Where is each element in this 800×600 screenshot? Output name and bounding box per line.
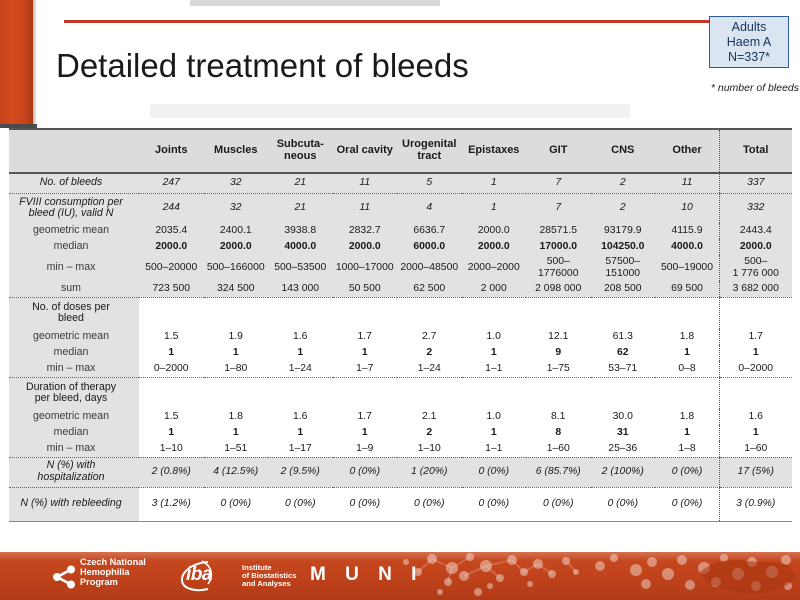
cell-line: 2 098 000: [535, 283, 581, 294]
table-cell: 0 (0%): [526, 487, 591, 521]
table-cell: 247: [139, 173, 204, 193]
cell-line: 1: [684, 427, 690, 438]
row-label: geometric mean: [9, 329, 139, 345]
cell-line: 1: [491, 177, 497, 188]
left-accent-bar-shadow: [33, 0, 37, 127]
table-cell-total: 1: [720, 425, 792, 441]
table-cell: [268, 297, 333, 329]
table-cell: 53–71: [591, 361, 656, 377]
cell-line: 7: [555, 202, 561, 213]
table-cell: 1.8: [655, 409, 720, 425]
table-cell: 32: [204, 173, 269, 193]
cell-line: 1–10: [160, 443, 183, 454]
table-row: min – max1–101–511–171–91–101–11–6025–36…: [9, 441, 792, 457]
table-cell-total: [720, 377, 792, 409]
results-table-container: Joints Muscles Subcuta- neous Oral cavit…: [9, 128, 791, 522]
page-title: Detailed treatment of bleeds: [56, 47, 469, 85]
slide-root: Detailed treatment of bleeds Adults Haem…: [0, 0, 800, 600]
cell-line: 500–20000: [145, 262, 197, 273]
table-cell: 208 500: [591, 281, 656, 297]
cell-line: 0 (0%): [414, 498, 445, 509]
cell-line: 4115.9: [671, 225, 702, 236]
cell-line: 0 (0%): [478, 466, 509, 477]
slide-footer: Czech National Hemophilia Program iba In…: [0, 552, 800, 600]
table-cell-total: 1: [720, 345, 792, 361]
table-cell: 1–7: [333, 361, 398, 377]
table-cell: 50 500: [333, 281, 398, 297]
table-cell: 0–8: [655, 361, 720, 377]
cell-line: 1.7: [749, 331, 763, 342]
table-cell: 2000.0: [462, 223, 527, 239]
cell-line: 0–8: [678, 363, 695, 374]
table-cell: 32: [204, 193, 269, 223]
table-cell: 0 (0%): [333, 457, 398, 487]
cell-line: 1: [233, 427, 239, 438]
row-label-line: geometric mean: [33, 224, 109, 236]
table-cell: 500–166000: [204, 255, 269, 281]
table-cell-total: 1.6: [720, 409, 792, 425]
cell-line: 2000–48500: [400, 262, 458, 273]
table-cell: 1–8: [655, 441, 720, 457]
cell-line: 28571.5: [539, 225, 577, 236]
cell-line: 2.7: [422, 331, 436, 342]
table-cell: 1–10: [397, 441, 462, 457]
table-cell: [333, 297, 398, 329]
table-cell: 1: [268, 345, 333, 361]
table-cell: 2: [591, 173, 656, 193]
table-cell: 2832.7: [333, 223, 398, 239]
table-cell: 1–24: [268, 361, 333, 377]
cell-line: 4 (12.5%): [213, 466, 258, 477]
table-cell: 2 (0.8%): [139, 457, 204, 487]
cell-line: 2: [620, 177, 626, 188]
table-body: No. of bleeds247322111517211337FVIII con…: [9, 173, 792, 521]
table-cell: 1.9: [204, 329, 269, 345]
cell-line: 247: [163, 177, 180, 188]
table-cell: 62 500: [397, 281, 462, 297]
header-oral-cavity: Oral cavity: [333, 129, 398, 173]
row-label-line: N (%) with: [47, 459, 96, 471]
header-epistaxes: Epistaxes: [462, 129, 527, 173]
cell-line: 500–19000: [661, 262, 713, 273]
table-cell: 8.1: [526, 409, 591, 425]
table-cell: 1–1: [462, 441, 527, 457]
table-cell: 9: [526, 345, 591, 361]
cell-line: 61.3: [613, 331, 633, 342]
row-label: Duration of therapyper bleed, days: [9, 377, 139, 409]
table-cell: [268, 377, 333, 409]
cell-line: 6636.7: [413, 225, 445, 236]
cell-line: 1: [491, 347, 497, 358]
table-cell: 2400.1: [204, 223, 269, 239]
table-cell: 4: [397, 193, 462, 223]
table-cell: 1.0: [462, 409, 527, 425]
table-cell: 1: [655, 345, 720, 361]
table-cell: 69 500: [655, 281, 720, 297]
cell-line: 1–60: [744, 443, 767, 454]
cell-line: 2000.0: [220, 241, 252, 252]
header-urogenital-line2: tract: [417, 150, 441, 162]
cell-line: 6000.0: [413, 241, 445, 252]
table-cell: 1: [139, 425, 204, 441]
cell-line: 1: [168, 427, 174, 438]
cell-line: 8.1: [551, 411, 565, 422]
row-label-line: median: [54, 426, 89, 438]
table-cell: [526, 377, 591, 409]
cell-line: 11: [682, 177, 693, 188]
cell-line: 1.8: [229, 411, 243, 422]
table-cell: 2035.4: [139, 223, 204, 239]
header-urogenital-line1: Urogenital: [402, 138, 456, 150]
header-urogenital: Urogenital tract: [397, 129, 462, 173]
table-cell: [591, 377, 656, 409]
table-cell: 2000–48500: [397, 255, 462, 281]
table-cell: [333, 377, 398, 409]
table-cell: [397, 297, 462, 329]
cell-line: 1: [753, 347, 759, 358]
header-other: Other: [655, 129, 720, 173]
cell-line: 1: [297, 427, 303, 438]
table-cell: 4115.9: [655, 223, 720, 239]
table-cell: 500–20000: [139, 255, 204, 281]
cell-line: 2.1: [422, 411, 436, 422]
table-cell: 30.0: [591, 409, 656, 425]
cell-line: 2000.0: [740, 241, 772, 252]
header-muscles: Muscles: [204, 129, 269, 173]
cell-line: 0 (0%): [543, 498, 574, 509]
table-cell: 1.8: [204, 409, 269, 425]
table-cell: 244: [139, 193, 204, 223]
row-label: N (%) withhospitalization: [9, 457, 139, 487]
cell-line: 12.1: [548, 331, 568, 342]
table-row: min – max0–20001–801–241–71–241–11–7553–…: [9, 361, 792, 377]
row-label-line: per bleed, days: [35, 392, 107, 404]
row-label: min – max: [9, 361, 139, 377]
table-cell-total: 3 (0.9%): [720, 487, 792, 521]
cohort-badge-line1: Adults: [710, 20, 788, 35]
cell-line: 17000.0: [539, 241, 577, 252]
top-decoration-band: [190, 0, 440, 6]
iba-line3: and Analyses: [242, 580, 296, 588]
cell-line: 0 (0%): [672, 466, 703, 477]
row-label-line: N (%) with rebleeding: [20, 497, 121, 509]
table-cell: 2: [397, 425, 462, 441]
cell-line: 32: [230, 177, 242, 188]
table-cell: 57500–151000: [591, 255, 656, 281]
cell-line: 9: [555, 347, 561, 358]
table-cell: 25–36: [591, 441, 656, 457]
cell-line: 208 500: [604, 283, 642, 294]
cell-line: 1: [362, 347, 368, 358]
row-label-line: bleed: [58, 312, 84, 324]
header-subcutaneous-line1: Subcuta-: [277, 138, 324, 150]
table-cell: 1: [204, 345, 269, 361]
table-cell: 1–80: [204, 361, 269, 377]
table-cell: 1.6: [268, 329, 333, 345]
table-row: N (%) withhospitalization2 (0.8%)4 (12.5…: [9, 457, 792, 487]
cell-line: 2400.1: [220, 225, 252, 236]
cell-line: 32: [230, 202, 242, 213]
table-cell: 324 500: [204, 281, 269, 297]
table-cell: 12.1: [526, 329, 591, 345]
cell-line: 2000.0: [155, 241, 187, 252]
row-label-line: geometric mean: [33, 330, 109, 342]
row-label: min – max: [9, 441, 139, 457]
cell-line: 1–1: [485, 443, 502, 454]
table-row: Duration of therapyper bleed, days: [9, 377, 792, 409]
table-cell: 1: [333, 425, 398, 441]
cell-line: 0 (0%): [285, 498, 316, 509]
row-label-line: bleed (IU), valid N: [29, 207, 114, 219]
table-cell: 4 (12.5%): [204, 457, 269, 487]
table-cell: 1: [333, 345, 398, 361]
cell-line: 50 500: [349, 283, 381, 294]
cell-line: 1.9: [229, 331, 243, 342]
cell-line: 7: [555, 177, 561, 188]
cell-line: 332: [747, 202, 764, 213]
title-underline-rule: [64, 20, 714, 23]
row-label: geometric mean: [9, 223, 139, 239]
table-cell-total: 337: [720, 173, 792, 193]
table-cell: 1000–17000: [333, 255, 398, 281]
row-label-line: Duration of therapy: [26, 381, 116, 393]
iba-logo-subtitle: Institute of Biostatistics and Analyses: [242, 564, 296, 589]
row-label-line: min – max: [47, 261, 96, 273]
table-cell: [462, 297, 527, 329]
cell-line: 1 (20%): [411, 466, 447, 477]
cell-line: 2000.0: [349, 241, 381, 252]
header-subcutaneous-line2: neous: [284, 150, 316, 162]
cell-line: 3 682 000: [733, 283, 779, 294]
table-cell: 1: [462, 345, 527, 361]
header-joints: Joints: [139, 129, 204, 173]
table-cell: 1: [268, 425, 333, 441]
table-cell: 1.0: [462, 329, 527, 345]
table-cell: [655, 377, 720, 409]
cell-line: 57500–: [605, 256, 640, 267]
cell-line: 104250.0: [601, 241, 644, 252]
cohort-badge-line3: N=337*: [710, 50, 788, 65]
table-cell: [204, 377, 269, 409]
cell-line: 2 (0.8%): [152, 466, 191, 477]
cell-line: 1–8: [678, 443, 695, 454]
table-cell: 7: [526, 193, 591, 223]
table-cell: 0 (0%): [397, 487, 462, 521]
cohort-badge-footnote: * number of bleeds: [700, 82, 799, 94]
table-cell: 2000.0: [204, 239, 269, 255]
table-cell: 500–1776000: [526, 255, 591, 281]
row-label-line: FVIII consumption per: [19, 196, 123, 208]
cell-line: 0 (0%): [349, 466, 380, 477]
header-cns: CNS: [591, 129, 656, 173]
cell-line: 1: [491, 427, 497, 438]
cell-line: 0 (0%): [607, 498, 638, 509]
cell-line: 1.7: [358, 331, 372, 342]
table-cell: 143 000: [268, 281, 333, 297]
cell-line: 151000: [605, 268, 640, 279]
table-cell: 10: [655, 193, 720, 223]
cell-line: 2000.0: [478, 241, 510, 252]
cell-line: 93179.9: [604, 225, 642, 236]
table-cell: 1: [655, 425, 720, 441]
cell-line: 21: [294, 177, 306, 188]
table-cell: 31: [591, 425, 656, 441]
table-cell: 2000.0: [333, 239, 398, 255]
iba-logo-word: iba: [186, 564, 212, 586]
row-label-line: min – max: [47, 442, 96, 454]
table-cell: 62: [591, 345, 656, 361]
cell-line: 4000.0: [671, 241, 703, 252]
table-cell-total: 1.7: [720, 329, 792, 345]
table-cell: [655, 297, 720, 329]
header-git: GIT: [526, 129, 591, 173]
table-cell: [526, 297, 591, 329]
cell-line: 1–10: [418, 443, 441, 454]
table-cell: [462, 377, 527, 409]
cell-line: 1–7: [356, 363, 373, 374]
table-cell: 1–24: [397, 361, 462, 377]
cell-line: 1–60: [547, 443, 570, 454]
row-label-line: No. of doses per: [32, 301, 110, 313]
cell-line: 69 500: [671, 283, 703, 294]
row-label: sum: [9, 281, 139, 297]
mid-decoration-band: [150, 104, 630, 118]
cell-line: 0–2000: [738, 363, 773, 374]
row-label: No. of doses perbleed: [9, 297, 139, 329]
table-cell-total: 500–1 776 000: [720, 255, 792, 281]
table-cell-total: [720, 297, 792, 329]
table-cell: 0 (0%): [462, 457, 527, 487]
table-cell: 28571.5: [526, 223, 591, 239]
cell-line: 2 (9.5%): [281, 466, 320, 477]
cell-line: 1.0: [487, 331, 501, 342]
table-cell: 2 000: [462, 281, 527, 297]
table-row: geometric mean2035.42400.13938.82832.766…: [9, 223, 792, 239]
cell-line: 2: [426, 427, 432, 438]
table-cell: 6 (85.7%): [526, 457, 591, 487]
table-cell: 1: [462, 193, 527, 223]
cell-line: 6 (85.7%): [536, 466, 581, 477]
cnhp-logo-text: Czech National Hemophilia Program: [80, 558, 146, 587]
table-cell: 1–9: [333, 441, 398, 457]
table-cell-total: 17 (5%): [720, 457, 792, 487]
row-label-line: hospitalization: [37, 471, 104, 483]
table-cell: 0 (0%): [268, 487, 333, 521]
table-cell: 2000.0: [139, 239, 204, 255]
cell-line: 11: [359, 202, 370, 213]
cell-line: 1: [753, 427, 759, 438]
table-cell: 1–1: [462, 361, 527, 377]
cnhp-logo-icon: [52, 564, 78, 590]
table-cell: 1–17: [268, 441, 333, 457]
table-cell: 4000.0: [655, 239, 720, 255]
table-cell: 500–53500: [268, 255, 333, 281]
cell-line: 53–71: [608, 363, 637, 374]
table-cell-total: 2443.4: [720, 223, 792, 239]
table-row: min – max500–20000500–166000500–53500100…: [9, 255, 792, 281]
cnhp-line3: Program: [80, 578, 146, 588]
header-subcutaneous: Subcuta- neous: [268, 129, 333, 173]
table-cell: 2.1: [397, 409, 462, 425]
table-cell: 93179.9: [591, 223, 656, 239]
table-row: sum723 500324 500143 00050 50062 5002 00…: [9, 281, 792, 297]
cell-line: 5: [426, 177, 432, 188]
row-label-line: geometric mean: [33, 410, 109, 422]
cell-line: 723 500: [152, 283, 190, 294]
muni-logo-text: M U N I: [310, 564, 423, 586]
row-label: geometric mean: [9, 409, 139, 425]
table-cell: 2: [591, 193, 656, 223]
cell-line: 1: [233, 347, 239, 358]
row-label-line: median: [54, 346, 89, 358]
table-cell: 1: [462, 173, 527, 193]
table-cell: 6000.0: [397, 239, 462, 255]
table-row: geometric mean1.51.91.61.72.71.012.161.3…: [9, 329, 792, 345]
row-label: No. of bleeds: [9, 173, 139, 193]
table-cell: 6636.7: [397, 223, 462, 239]
table-cell: 1.6: [268, 409, 333, 425]
table-cell: 0 (0%): [333, 487, 398, 521]
cell-line: 2: [620, 202, 626, 213]
table-cell: 1.5: [139, 329, 204, 345]
row-label-line: min – max: [47, 362, 96, 374]
cell-line: 500–166000: [207, 262, 265, 273]
cell-line: 21: [294, 202, 306, 213]
table-cell: 2000–2000: [462, 255, 527, 281]
row-label-line: median: [54, 240, 89, 252]
table-cell: 1 (20%): [397, 457, 462, 487]
cell-line: 500–53500: [274, 262, 326, 273]
table-cell: 0 (0%): [655, 457, 720, 487]
table-cell: 5: [397, 173, 462, 193]
row-label-line: No. of bleeds: [40, 176, 102, 188]
cell-line: 1000–17000: [336, 262, 394, 273]
header-total: Total: [720, 129, 792, 173]
row-label: median: [9, 425, 139, 441]
table-cell: 2.7: [397, 329, 462, 345]
cell-line: 4000.0: [284, 241, 316, 252]
table-cell: 8: [526, 425, 591, 441]
table-cell: 1.7: [333, 329, 398, 345]
table-cell: 1: [204, 425, 269, 441]
cell-line: 1: [491, 202, 497, 213]
cell-line: 30.0: [613, 411, 633, 422]
cohort-badge: Adults Haem A N=337*: [709, 16, 789, 68]
cell-line: 10: [681, 202, 693, 213]
table-cell-total: 332: [720, 193, 792, 223]
row-label: FVIII consumption perbleed (IU), valid N: [9, 193, 139, 223]
table-cell: 1–10: [139, 441, 204, 457]
row-label: median: [9, 345, 139, 361]
cell-line: 1: [168, 347, 174, 358]
table-cell: [397, 377, 462, 409]
cell-line: 1–17: [289, 443, 312, 454]
table-cell: [139, 377, 204, 409]
cell-line: 2: [426, 347, 432, 358]
table-cell-total: 0–2000: [720, 361, 792, 377]
cell-line: 143 000: [281, 283, 319, 294]
table-cell: 2 (100%): [591, 457, 656, 487]
table-cell: 2 (9.5%): [268, 457, 333, 487]
cell-line: 1–75: [547, 363, 570, 374]
table-cell: 1–60: [526, 441, 591, 457]
row-label-line: sum: [61, 282, 81, 294]
cell-line: 4: [426, 202, 432, 213]
table-cell: 104250.0: [591, 239, 656, 255]
table-row: FVIII consumption perbleed (IU), valid N…: [9, 193, 792, 223]
cell-line: 244: [163, 202, 180, 213]
table-row: geometric mean1.51.81.61.72.11.08.130.01…: [9, 409, 792, 425]
